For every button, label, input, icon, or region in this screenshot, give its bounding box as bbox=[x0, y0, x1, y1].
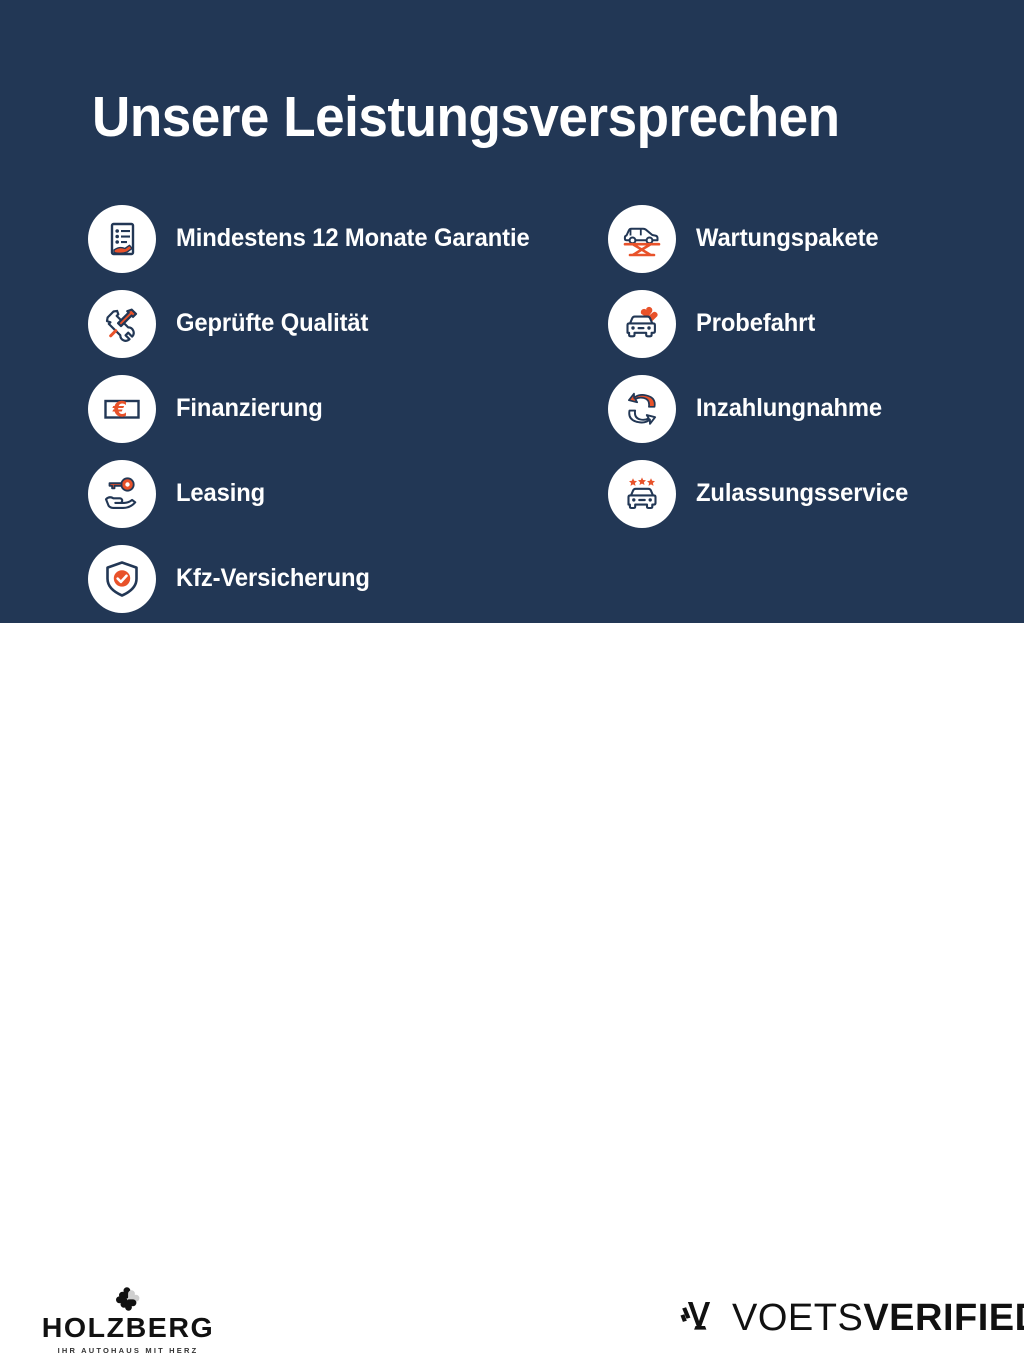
page-title: Unsere Leistungsversprechen bbox=[92, 88, 840, 148]
car-lift-icon bbox=[608, 205, 676, 273]
holzberg-tagline: IHR AUTOHAUS MIT HERZ bbox=[38, 1346, 218, 1355]
car-stars-icon bbox=[608, 460, 676, 528]
holzberg-wordmark: HOLZBERG bbox=[36, 1314, 220, 1342]
feature-label: Finanzierung bbox=[176, 394, 323, 423]
feature-label: Mindestens 12 Monate Garantie bbox=[176, 224, 530, 253]
feature-item-garantie: Mindestens 12 Monate Garantie bbox=[88, 196, 548, 281]
wrench-screwdriver-icon bbox=[88, 290, 156, 358]
shield-check-icon bbox=[88, 545, 156, 613]
voets-word-bold: VERIFIED bbox=[863, 1297, 1024, 1339]
feature-label: Zulassungsservice bbox=[696, 479, 908, 508]
clover-icon bbox=[38, 1286, 218, 1312]
feature-item-finanzierung: € Finanzierung bbox=[88, 366, 548, 451]
feature-item-qualitaet: Geprüfte Qualität bbox=[88, 281, 548, 366]
feature-label: Probefahrt bbox=[696, 309, 815, 338]
feature-label: Kfz-Versicherung bbox=[176, 564, 370, 593]
feature-item-inzahlungnahme: Inzahlungnahme bbox=[608, 366, 919, 451]
feature-item-leasing: Leasing bbox=[88, 451, 548, 536]
voets-wordmark: VOETSVERIFIED bbox=[732, 1299, 1024, 1337]
features-left-column: Mindestens 12 Monate Garantie Geprüfte Q… bbox=[88, 196, 548, 621]
voets-verified-logo: VOETSVERIFIED bbox=[678, 1295, 1024, 1340]
voets-chevron-icon bbox=[678, 1295, 718, 1340]
hand-key-icon bbox=[88, 460, 156, 528]
promo-graphic: Unsere Leistungsversprechen bbox=[0, 0, 1024, 768]
voets-word-light: VOETS bbox=[732, 1297, 863, 1339]
holzberg-logo: HOLZBERG IHR AUTOHAUS MIT HERZ bbox=[38, 1286, 218, 1355]
exchange-arrows-icon bbox=[608, 375, 676, 443]
svg-text:€: € bbox=[112, 397, 128, 421]
feature-label: Inzahlungnahme bbox=[696, 394, 882, 423]
banknote-euro-icon: € bbox=[88, 375, 156, 443]
car-heart-icon bbox=[608, 290, 676, 358]
feature-item-zulassungsservice: Zulassungsservice bbox=[608, 451, 919, 536]
feature-label: Geprüfte Qualität bbox=[176, 309, 368, 338]
feature-item-wartungspakete: Wartungspakete bbox=[608, 196, 919, 281]
features-right-column: Wartungspakete bbox=[608, 196, 919, 536]
document-signature-icon bbox=[88, 205, 156, 273]
hero-band: Unsere Leistungsversprechen bbox=[0, 0, 1024, 623]
feature-item-probefahrt: Probefahrt bbox=[608, 281, 919, 366]
feature-item-versicherung: Kfz-Versicherung bbox=[88, 536, 548, 621]
footer-band: HOLZBERG IHR AUTOHAUS MIT HERZ VOETSVERI… bbox=[0, 623, 1024, 768]
feature-label: Wartungspakete bbox=[696, 224, 879, 253]
feature-label: Leasing bbox=[176, 479, 265, 508]
